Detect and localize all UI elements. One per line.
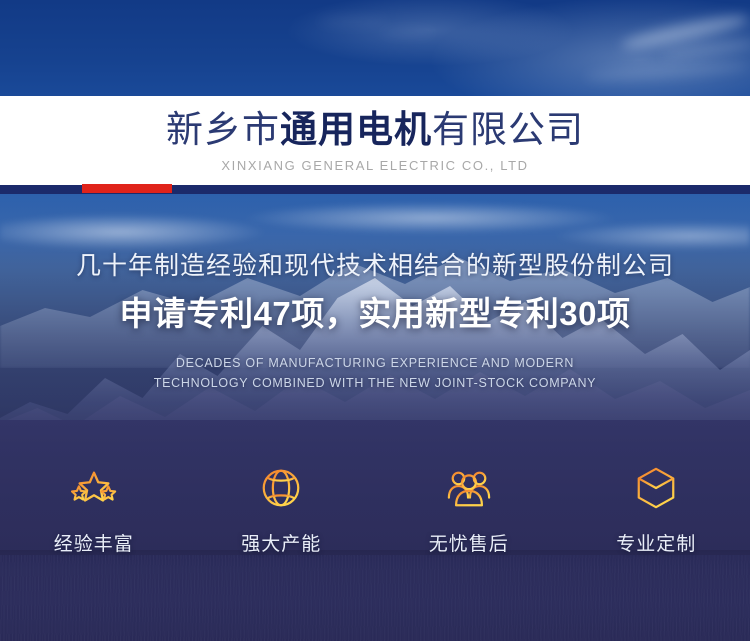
- feature-label: 无忧售后: [429, 533, 509, 557]
- subline-english-2: TECHNOLOGY COMBINED WITH THE NEW JOINT-S…: [0, 373, 750, 393]
- people-group-icon: [446, 465, 492, 511]
- feature-item-customization[interactable]: 专业定制: [563, 465, 750, 557]
- company-name-cn: 新乡市通用电机有限公司: [0, 108, 750, 152]
- cube-box-icon: [633, 465, 679, 511]
- red-accent-bar: [82, 184, 172, 193]
- company-name-strong: 通用电机: [280, 109, 432, 150]
- cloud-wisp-icon: [380, 30, 435, 36]
- cloud-wisp-icon: [318, 18, 388, 25]
- feature-strip: 经验丰富 强大产能: [0, 465, 750, 575]
- feature-label: 强大产能: [241, 533, 321, 557]
- feature-label: 专业定制: [616, 533, 696, 557]
- headline-patents: 申请专利47项，实用新型专利30项: [0, 293, 750, 335]
- feature-item-after-sales[interactable]: 无忧售后: [375, 465, 563, 557]
- cloud-wisp-icon: [585, 60, 750, 82]
- company-promo-banner: 新乡市通用电机有限公司 XINXIANG GENERAL ELECTRIC CO…: [0, 0, 750, 641]
- feature-label: 经验丰富: [54, 533, 134, 557]
- company-name-suffix: 有限公司: [432, 109, 584, 150]
- feature-item-experience[interactable]: 经验丰富: [0, 465, 188, 557]
- company-name-prefix: 新乡市: [166, 109, 280, 150]
- globe-icon: [258, 465, 304, 511]
- subline-english-1: DECADES OF MANUFACTURING EXPERIENCE AND …: [0, 353, 750, 373]
- company-name-en: XINXIANG GENERAL ELECTRIC CO., LTD: [0, 157, 750, 175]
- three-stars-icon: [71, 465, 117, 511]
- feature-item-capacity[interactable]: 强大产能: [188, 465, 376, 557]
- headline-primary: 几十年制造经验和现代技术相结合的新型股份制公司: [0, 249, 750, 283]
